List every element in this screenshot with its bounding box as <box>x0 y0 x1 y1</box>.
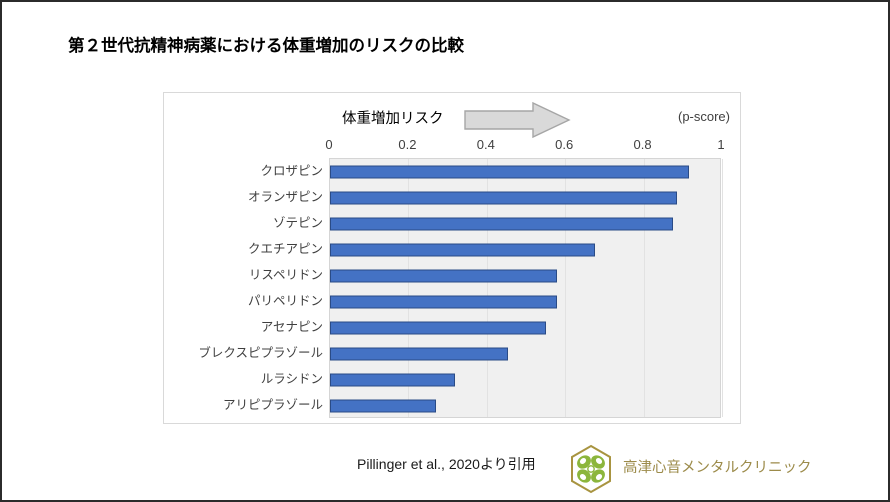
y-axis-category-label: ルラシドン <box>261 372 323 386</box>
plot-area <box>329 158 721 418</box>
chart-header: 体重増加リスク (p-score) <box>164 93 742 141</box>
bar <box>330 322 546 335</box>
plot-region: クロザピンオランザピンゾテピンクエチアピンリスペリドンパリペリドンアセナピンブレ… <box>168 158 738 418</box>
y-axis-category-labels: クロザピンオランザピンゾテピンクエチアピンリスペリドンパリペリドンアセナピンブレ… <box>168 158 329 418</box>
x-axis-tick: 0.8 <box>634 137 652 152</box>
y-axis-category-label: ゾテピン <box>273 216 323 230</box>
y-axis-category-label: クエチアピン <box>248 242 323 256</box>
x-axis-tick: 0.6 <box>555 137 573 152</box>
bar <box>330 400 436 413</box>
footer: Pillinger et al., 2020より引用 高津 <box>357 443 817 495</box>
clinic-name: 高津心音メンタルクリニック <box>623 456 812 477</box>
x-axis-tick: 0.4 <box>477 137 495 152</box>
y-axis-category-label: パリペリドン <box>248 294 323 308</box>
y-axis-category-label: アリピプラゾール <box>223 398 323 412</box>
hexagon-clover-logo-icon <box>565 443 617 495</box>
page-title: 第２世代抗精神病薬における体重増加のリスクの比較 <box>68 32 464 56</box>
bar <box>330 374 455 387</box>
y-axis-category-label: オランザピン <box>248 190 323 204</box>
x-axis-tick: 1 <box>717 137 724 152</box>
x-axis-tick: 0 <box>325 137 332 152</box>
bar <box>330 192 677 205</box>
bar <box>330 166 689 179</box>
gridline <box>722 159 723 417</box>
slide-canvas: 第２世代抗精神病薬における体重増加のリスクの比較 体重増加リスク (p-scor… <box>0 0 890 502</box>
right-arrow-icon <box>463 101 571 139</box>
bar <box>330 270 557 283</box>
bar <box>330 296 557 309</box>
bar <box>330 218 673 231</box>
y-axis-category-label: ブレクスピプラゾール <box>198 346 323 360</box>
risk-axis-label: 体重増加リスク <box>342 107 444 128</box>
bar <box>330 348 508 361</box>
bar <box>330 244 595 257</box>
unit-label: (p-score) <box>678 109 730 124</box>
y-axis-category-label: リスペリドン <box>249 268 323 282</box>
y-axis-category-label: クロザピン <box>260 164 323 178</box>
chart-container: 体重増加リスク (p-score) 00.20.40.60.81 クロザピンオラ… <box>163 92 741 424</box>
x-axis-tick: 0.2 <box>398 137 416 152</box>
citation-text: Pillinger et al., 2020より引用 <box>357 454 536 474</box>
x-axis-tick-labels: 00.20.40.60.81 <box>164 137 742 157</box>
y-axis-category-label: アセナピン <box>261 320 323 334</box>
